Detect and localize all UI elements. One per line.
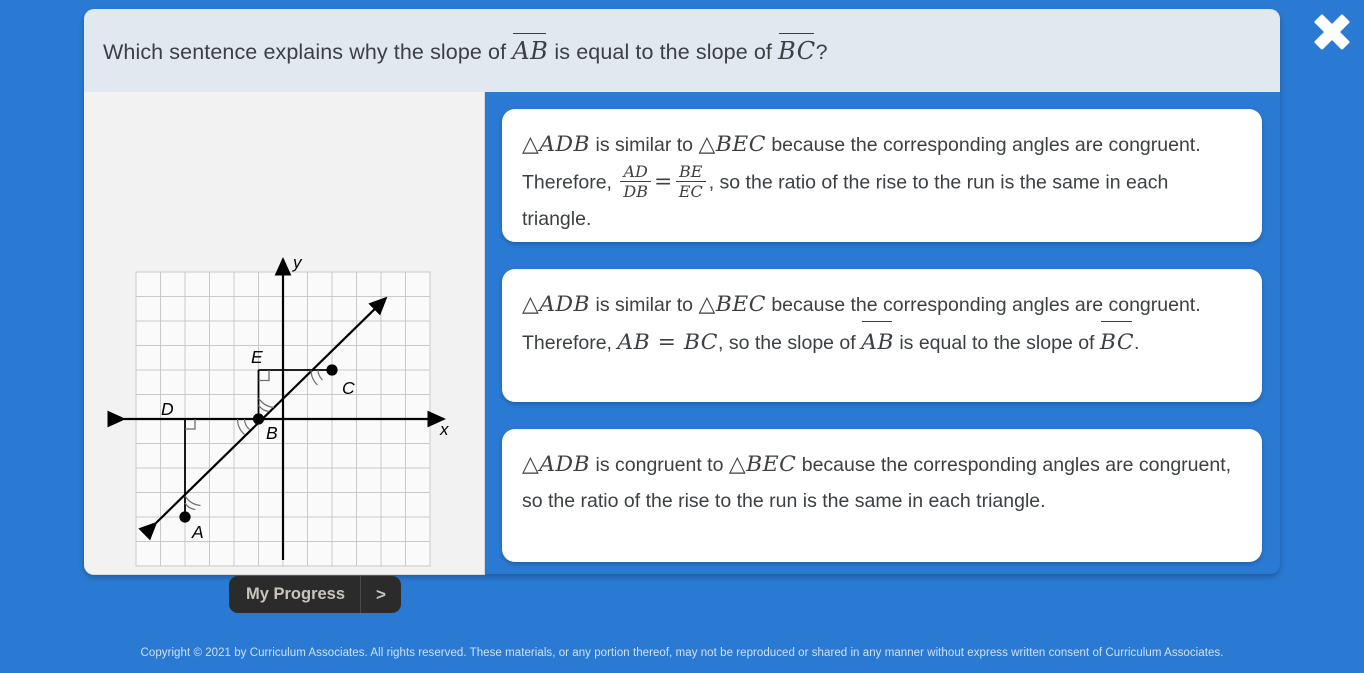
math-expression: △BEC: [729, 452, 796, 477]
chevron-right-icon: >: [361, 585, 401, 605]
fraction-denominator: EC: [676, 181, 706, 201]
point-label-c: C: [342, 378, 355, 398]
point-b: [253, 413, 264, 424]
my-progress-label: My Progress: [229, 585, 360, 604]
copyright-footer: Copyright © 2021 by Curriculum Associate…: [0, 647, 1364, 659]
answer-option-2[interactable]: △ADB is similar to △BEC because the corr…: [502, 269, 1262, 402]
point-label-b: B: [266, 423, 278, 443]
math-expression: AB = BC: [617, 330, 718, 355]
math-expression: =: [654, 169, 673, 194]
graph-panel: y x: [84, 92, 485, 575]
fraction: ADDB: [620, 163, 651, 202]
point-label-d: D: [161, 399, 174, 419]
my-progress-button[interactable]: My Progress >: [229, 576, 401, 613]
point-label-a: A: [191, 522, 204, 542]
question-suffix: ?: [816, 40, 828, 64]
segment-notation: AB: [861, 324, 894, 361]
point-c: [326, 364, 337, 375]
question-middle: is equal to the slope of: [548, 40, 778, 64]
close-icon: [1308, 4, 1356, 52]
fraction-numerator: BE: [676, 163, 706, 182]
fraction: BEEC: [676, 163, 706, 202]
answer-options: △ADB is similar to △BEC because the corr…: [484, 92, 1280, 574]
point-label-e: E: [251, 347, 263, 367]
y-axis-label: y: [292, 253, 303, 272]
question-text: Which sentence explains why the slope of…: [84, 36, 828, 65]
answer-text: , so the ratio of the rise to the run is…: [522, 171, 1168, 230]
question-header: Which sentence explains why the slope of…: [84, 9, 1280, 92]
answer-text: .: [1134, 332, 1139, 354]
answer-text: is congruent to: [590, 454, 729, 476]
fraction-numerator: AD: [620, 163, 651, 182]
question-prefix: Which sentence explains why the slope of: [103, 40, 512, 64]
math-expression: △BEC: [698, 132, 765, 157]
answer-option-3[interactable]: △ADB is congruent to △BEC because the co…: [502, 429, 1262, 562]
close-button[interactable]: [1308, 4, 1356, 52]
answer-text: , so the slope of: [718, 332, 861, 354]
x-axis-label: x: [439, 420, 449, 439]
math-expression: △BEC: [698, 292, 765, 317]
math-expression: △ADB: [522, 292, 590, 317]
answer-text: is similar to: [590, 134, 698, 156]
question-segment-ab: AB: [512, 36, 548, 65]
answer-option-1[interactable]: △ADB is similar to △BEC because the corr…: [502, 109, 1262, 242]
point-a: [179, 511, 190, 522]
math-expression: △ADB: [522, 132, 590, 157]
math-expression: △ADB: [522, 452, 590, 477]
fraction-denominator: DB: [620, 181, 651, 201]
question-segment-bc: BC: [778, 36, 816, 65]
answer-text: is similar to: [590, 294, 698, 316]
answer-text: is equal to the slope of: [894, 332, 1100, 354]
coordinate-graph: y x: [84, 92, 484, 574]
segment-notation: BC: [1100, 324, 1134, 361]
